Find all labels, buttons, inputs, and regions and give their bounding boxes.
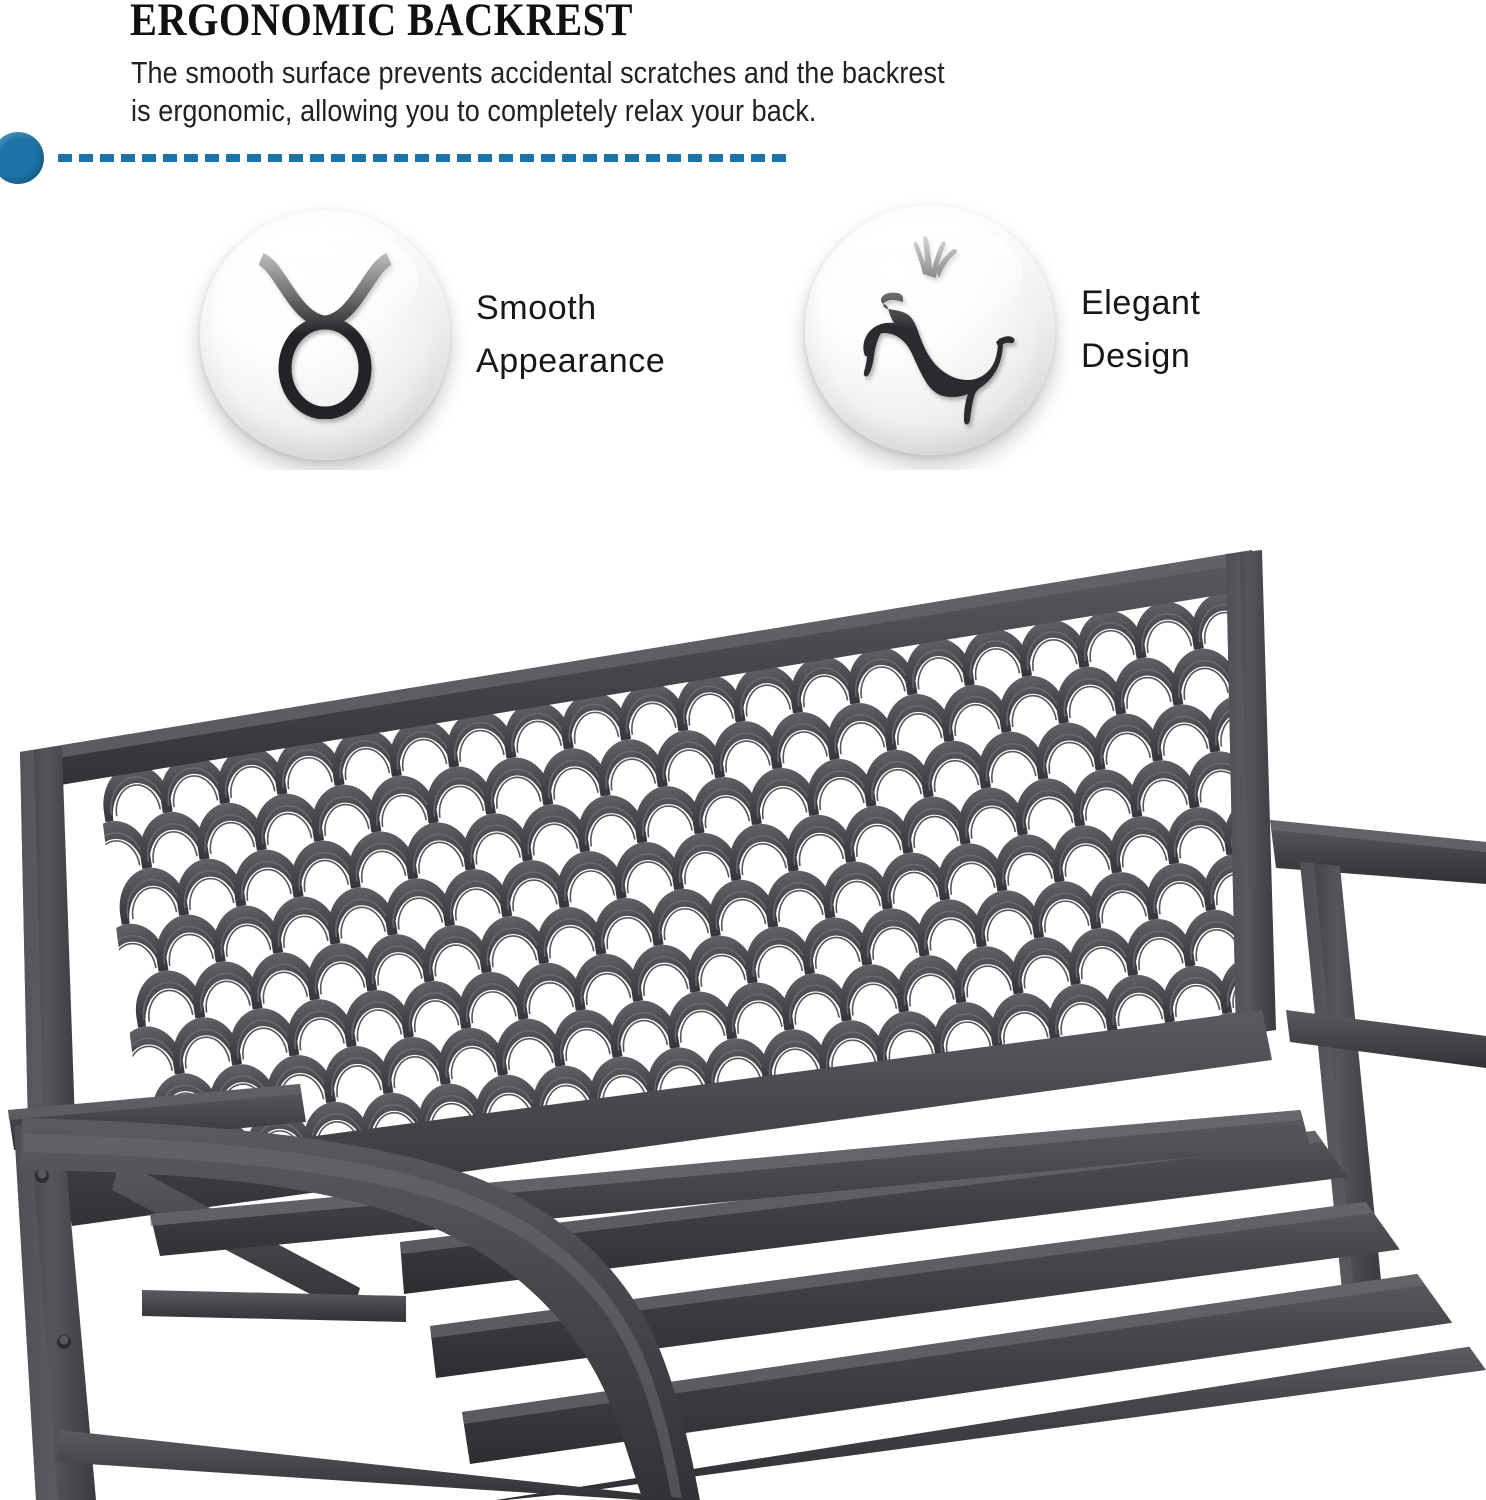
feature-label-line-2: Design (1081, 330, 1201, 383)
blue-dot-icon (0, 132, 44, 184)
badge-circle-smooth (200, 210, 450, 460)
feature-label-line-1: Elegant (1081, 277, 1201, 330)
badge-circle-elegant (805, 205, 1055, 455)
bench-illustration (0, 470, 1486, 1500)
header-block: ERGONOMIC BACKREST The smooth surface pr… (0, 0, 1486, 200)
page-title: ERGONOMIC BACKREST (130, 0, 633, 45)
page-subtitle: The smooth surface prevents accidental s… (131, 54, 1262, 130)
feature-label-line-1: Smooth (476, 282, 665, 335)
accent-divider (0, 132, 900, 188)
subtitle-line-2: is ergonomic, allowing you to completely… (131, 92, 1262, 130)
feature-label-elegant: Elegant Design (1081, 277, 1201, 382)
feature-smooth-appearance: Smooth Appearance (200, 210, 665, 460)
product-photo-metal-garden-bench (0, 470, 1486, 1500)
taurus-bull-symbol-icon (200, 210, 450, 460)
leaping-deer-icon (805, 205, 1055, 455)
feature-badges: Smooth Appearance (0, 205, 1486, 470)
feature-elegant-design: Elegant Design (805, 205, 1201, 455)
feature-label-smooth: Smooth Appearance (476, 282, 665, 387)
subtitle-line-1: The smooth surface prevents accidental s… (131, 54, 1262, 92)
feature-label-line-2: Appearance (476, 335, 665, 388)
dashed-line-icon (58, 154, 790, 162)
